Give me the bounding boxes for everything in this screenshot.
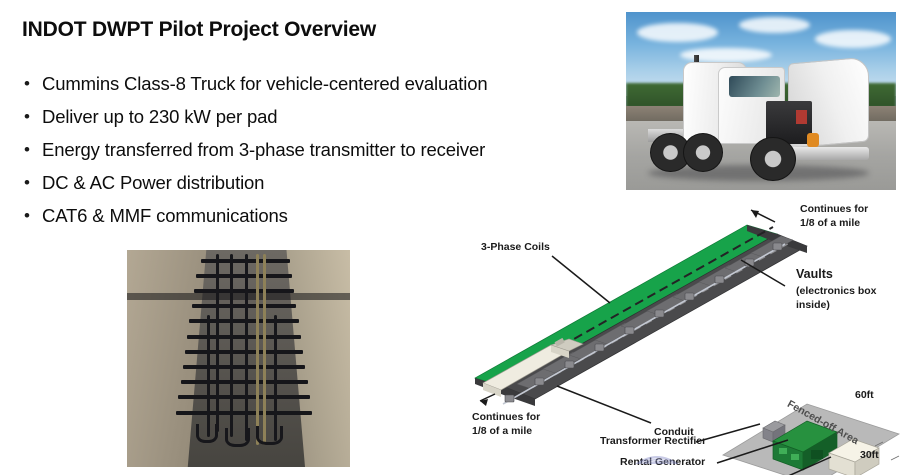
cloud-shape <box>815 30 891 48</box>
label-continues-bottom-line2: 1/8 of a mile <box>472 425 532 438</box>
dwpt-site-diagram: 3-Phase Coils Continues for 1/8 of a mil… <box>455 198 900 475</box>
generator-vent <box>791 454 799 460</box>
coil-cable-tan <box>263 254 266 445</box>
coil-rung <box>181 380 308 384</box>
engine-red-component <box>796 110 807 124</box>
generator-vent <box>779 448 787 454</box>
truck-photo <box>626 12 896 190</box>
label-dimension-60ft: 60ft <box>855 389 874 402</box>
conduit-line <box>503 244 785 404</box>
label-continues-top-line2: 1/8 of a mile <box>800 217 860 230</box>
bullet-text: CAT6 & MMF communications <box>42 204 288 228</box>
bullet-dot-icon: • <box>22 138 42 162</box>
bullet-dot-icon: • <box>22 171 42 195</box>
conduit-loop <box>256 426 283 446</box>
coil-rung <box>185 350 303 354</box>
cloud-shape <box>637 23 718 43</box>
coil-cable <box>207 315 210 437</box>
generator-door <box>811 450 823 459</box>
coil-rung <box>176 411 312 415</box>
coil-rung <box>187 335 301 339</box>
partial-arc-logo-icon <box>633 451 681 464</box>
label-vaults-sub-line2: inside) <box>796 299 830 312</box>
slide-canvas: INDOT DWPT Pilot Project Overview • Cumm… <box>0 0 900 475</box>
label-vaults-sub-line1: (electronics box <box>796 285 877 298</box>
label-vaults: Vaults <box>796 268 833 281</box>
bullet-dot-icon: • <box>22 72 42 96</box>
bullet-text: Deliver up to 230 kW per pad <box>42 105 277 129</box>
bullet-dot-icon: • <box>22 105 42 129</box>
leader-conduit <box>557 386 651 423</box>
coil-rung <box>189 319 298 323</box>
roadway-coil-photo <box>127 250 350 467</box>
truck-amber-light <box>807 133 819 147</box>
coil-cable <box>216 254 219 432</box>
coil-cable <box>245 254 248 441</box>
list-item: • Cummins Class-8 Truck for vehicle-cent… <box>22 72 632 105</box>
coil-joint-band <box>127 293 350 300</box>
truck-windshield <box>729 76 780 97</box>
bullet-dot-icon: • <box>22 204 42 228</box>
coil-rung <box>196 274 292 278</box>
bullet-text: Energy transferred from 3-phase transmit… <box>42 138 485 162</box>
coil-cable <box>274 315 277 441</box>
page-title: INDOT DWPT Pilot Project Overview <box>22 18 376 42</box>
truck-wheel <box>750 137 796 182</box>
list-item: • Deliver up to 230 kW per pad <box>22 105 632 138</box>
bullet-text: DC & AC Power distribution <box>42 171 264 195</box>
label-three-phase-coils: 3-Phase Coils <box>481 241 550 254</box>
coil-cable-tan <box>256 254 259 445</box>
conduit-loop <box>225 428 250 448</box>
label-transformer-rectifier: Transformer Rectifier <box>600 435 706 448</box>
coil-cable <box>230 254 233 436</box>
label-dimension-30ft: 30ft <box>860 449 879 462</box>
coil-rung <box>192 304 297 308</box>
label-continues-top-line1: Continues for <box>800 203 868 216</box>
truck-wheel <box>683 133 724 172</box>
conduit-loop <box>196 424 218 444</box>
coil-rung <box>183 365 306 369</box>
leader-three-phase-coils <box>552 256 610 303</box>
coil-rung <box>178 395 310 399</box>
label-continues-bottom-line1: Continues for <box>472 411 540 424</box>
list-item: • Energy transferred from 3-phase transm… <box>22 138 632 171</box>
bullet-text: Cummins Class-8 Truck for vehicle-center… <box>42 72 487 96</box>
